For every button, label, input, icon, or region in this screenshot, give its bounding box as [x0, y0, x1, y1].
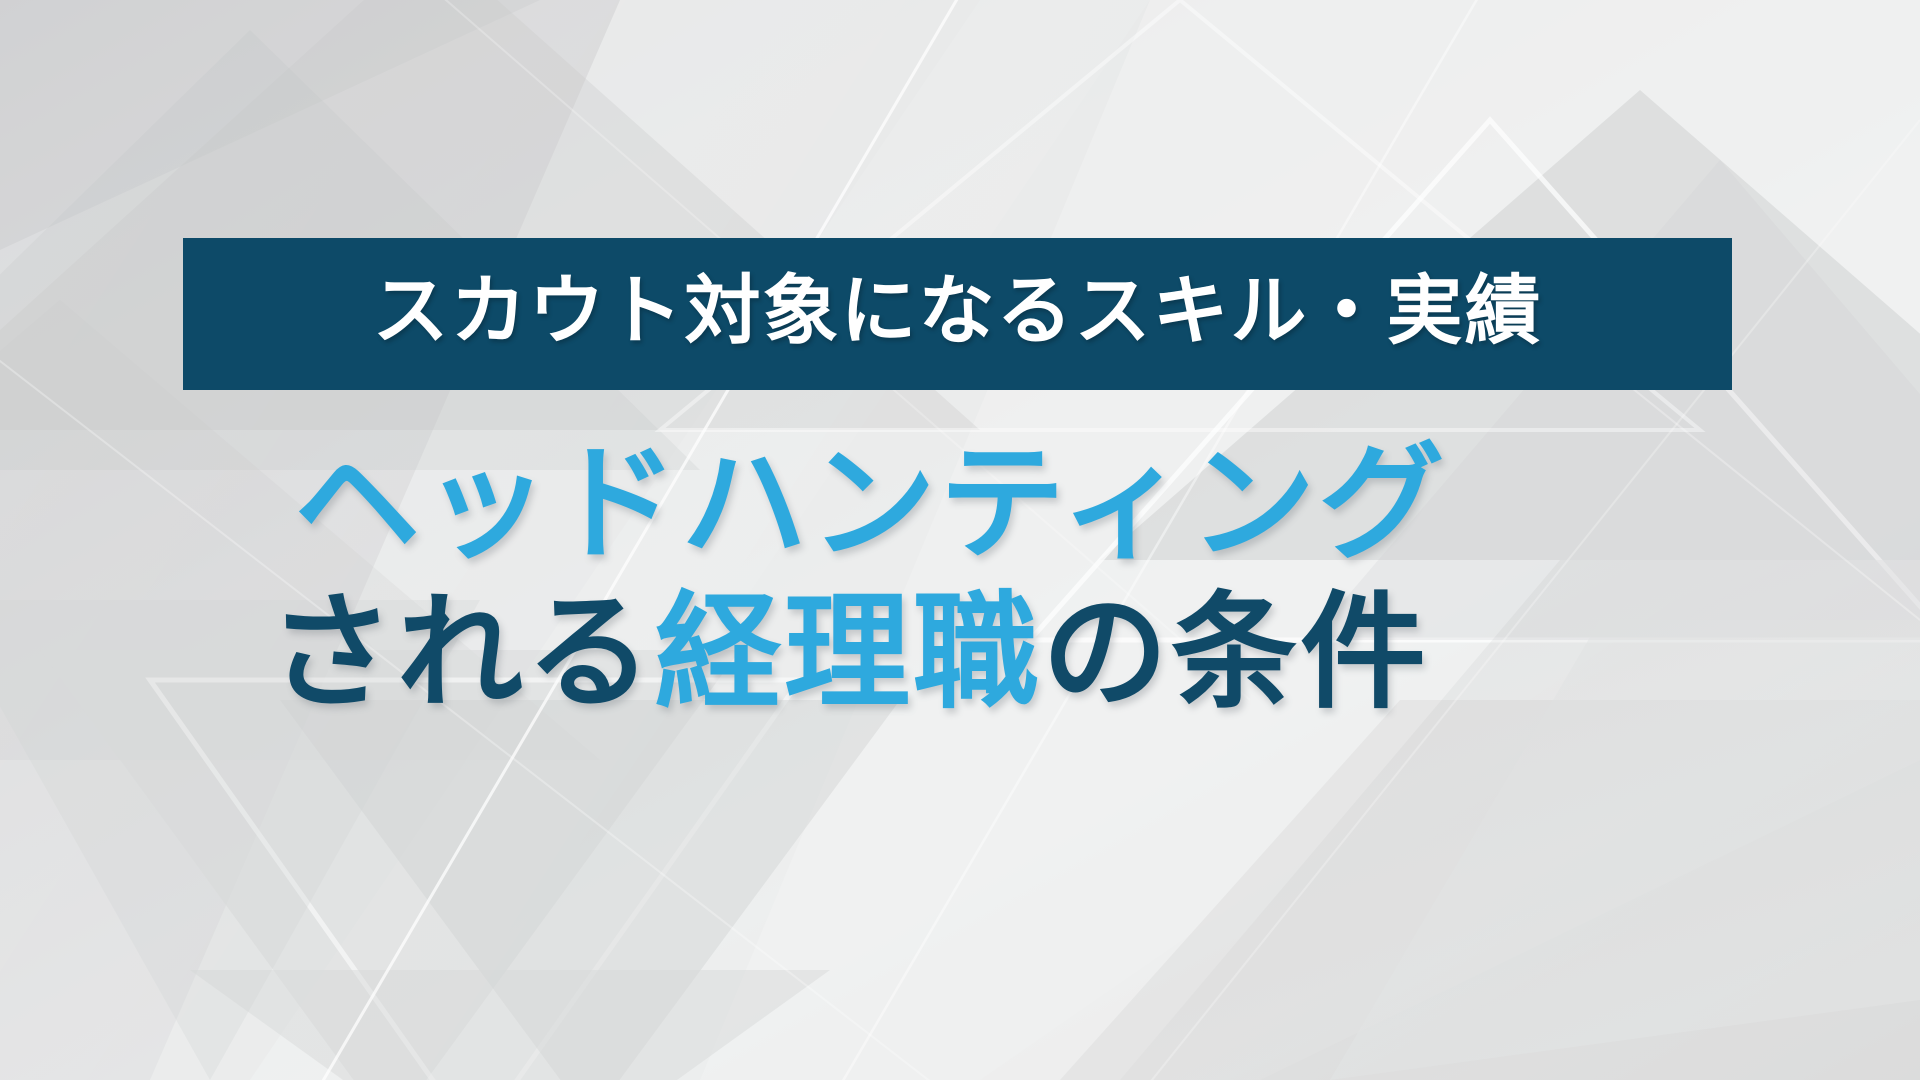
banner-label: スカウト対象になるスキル・実績 — [373, 274, 1543, 350]
title-line2-segment-b: 経理職 — [655, 582, 1042, 723]
title-line-2: される経理職の条件 — [268, 579, 1688, 728]
page-title: ヘッドハンティング される経理職の条件 — [268, 430, 1688, 727]
title-line1-text: ヘッドハンティング — [294, 433, 1447, 574]
title-line2-segment-a: される — [268, 582, 655, 723]
title-line2-segment-c: の条件 — [1042, 582, 1429, 723]
headline-banner: スカウト対象になるスキル・実績 — [183, 238, 1732, 390]
thumbnail-canvas: スカウト対象になるスキル・実績 ヘッドハンティング される経理職の条件 — [0, 0, 1920, 1080]
title-line-1: ヘッドハンティング — [268, 430, 1688, 579]
